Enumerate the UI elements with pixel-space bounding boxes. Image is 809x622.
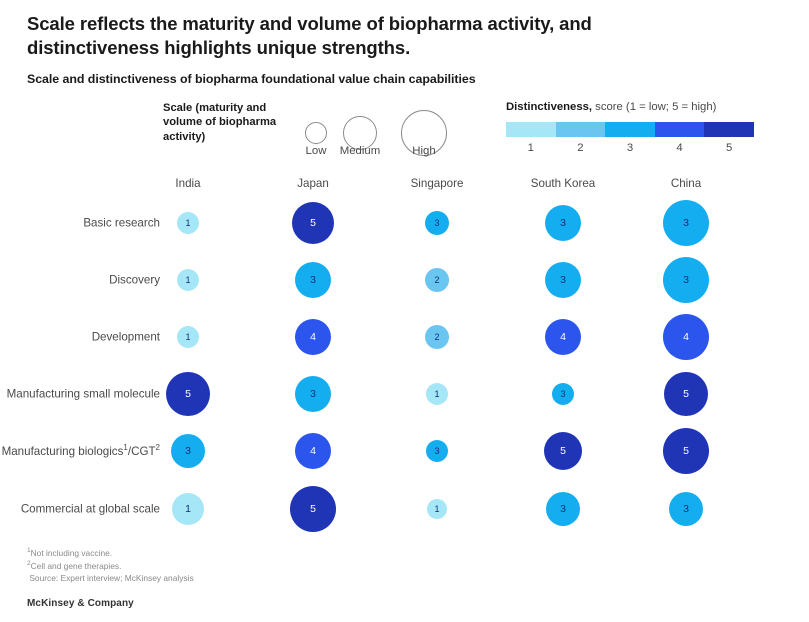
row-label-4: Manufacturing biologics1/CGT2 bbox=[0, 443, 160, 459]
column-header-china: China bbox=[671, 177, 701, 190]
bubble-1-japan[interactable]: 3 bbox=[295, 262, 331, 298]
bubble-3-india[interactable]: 5 bbox=[166, 372, 210, 416]
footnote-1: 2Cell and gene therapies. bbox=[27, 559, 447, 572]
row-label-2: Development bbox=[0, 329, 160, 344]
chart-page: Scale reflects the maturity and volume o… bbox=[0, 0, 809, 622]
bubble-0-china[interactable]: 3 bbox=[663, 200, 709, 246]
distinctiveness-tick-labels: 12345 bbox=[506, 142, 754, 154]
bubble-5-china[interactable]: 3 bbox=[669, 492, 703, 526]
bubble-4-china[interactable]: 5 bbox=[663, 428, 709, 474]
brand-mark: McKinsey & Company bbox=[27, 598, 134, 609]
color-swatch-3 bbox=[605, 122, 655, 137]
bubble-3-south-korea[interactable]: 3 bbox=[552, 383, 574, 405]
bubble-0-singapore[interactable]: 3 bbox=[425, 211, 449, 235]
column-header-south-korea: South Korea bbox=[531, 177, 595, 190]
bubble-1-india[interactable]: 1 bbox=[177, 269, 199, 291]
color-swatch-4 bbox=[655, 122, 705, 137]
bubble-5-japan[interactable]: 5 bbox=[290, 486, 336, 532]
color-tick-3: 3 bbox=[605, 142, 655, 154]
scale-legend-circle-low bbox=[305, 122, 327, 144]
color-tick-1: 1 bbox=[506, 142, 556, 154]
color-swatch-1 bbox=[506, 122, 556, 137]
bubble-4-singapore[interactable]: 3 bbox=[426, 440, 448, 462]
bubble-4-japan[interactable]: 4 bbox=[295, 433, 331, 469]
bubble-0-japan[interactable]: 5 bbox=[292, 202, 334, 244]
footnotes: 1Not including vaccine.2Cell and gene th… bbox=[27, 546, 447, 584]
footnote-0: 1Not including vaccine. bbox=[27, 546, 447, 559]
column-header-india: India bbox=[175, 177, 200, 190]
row-label-1: Discovery bbox=[0, 272, 160, 287]
distinctiveness-legend: Distinctiveness, score (1 = low; 5 = hig… bbox=[506, 101, 766, 163]
color-tick-2: 2 bbox=[556, 142, 606, 154]
distinctiveness-legend-title: Distinctiveness, score (1 = low; 5 = hig… bbox=[506, 101, 716, 113]
bubble-2-india[interactable]: 1 bbox=[177, 326, 199, 348]
distinctiveness-color-ramp bbox=[506, 122, 754, 137]
bubble-2-china[interactable]: 4 bbox=[663, 314, 709, 360]
bubble-5-south-korea[interactable]: 3 bbox=[546, 492, 580, 526]
bubble-5-india[interactable]: 1 bbox=[172, 493, 204, 525]
color-tick-5: 5 bbox=[704, 142, 754, 154]
scale-legend-title: Scale (maturity and volume of biopharma … bbox=[163, 101, 298, 144]
distinctiveness-legend-title-rest: score (1 = low; 5 = high) bbox=[592, 101, 716, 113]
bubble-5-singapore[interactable]: 1 bbox=[427, 499, 447, 519]
chart-subtitle: Scale and distinctiveness of biopharma f… bbox=[27, 72, 747, 86]
color-swatch-5 bbox=[704, 122, 754, 137]
scale-legend: Scale (maturity and volume of biopharma … bbox=[163, 101, 463, 163]
bubble-0-south-korea[interactable]: 3 bbox=[545, 205, 581, 241]
scale-legend-label-high: High bbox=[379, 145, 469, 157]
color-swatch-2 bbox=[556, 122, 606, 137]
bubble-3-china[interactable]: 5 bbox=[664, 372, 708, 416]
row-label-3: Manufacturing small molecule bbox=[0, 386, 160, 401]
bubble-2-singapore[interactable]: 2 bbox=[425, 325, 449, 349]
row-label-5: Commercial at global scale bbox=[0, 501, 160, 516]
bubble-4-south-korea[interactable]: 5 bbox=[544, 432, 582, 470]
bubble-2-south-korea[interactable]: 4 bbox=[545, 319, 581, 355]
bubble-3-japan[interactable]: 3 bbox=[295, 376, 331, 412]
page-title: Scale reflects the maturity and volume o… bbox=[27, 12, 717, 61]
bubble-2-japan[interactable]: 4 bbox=[295, 319, 331, 355]
footnote-2: Source: Expert interview; McKinsey analy… bbox=[27, 572, 447, 584]
bubble-1-south-korea[interactable]: 3 bbox=[545, 262, 581, 298]
distinctiveness-legend-title-bold: Distinctiveness, bbox=[506, 101, 592, 113]
bubble-1-china[interactable]: 3 bbox=[663, 257, 709, 303]
bubble-4-india[interactable]: 3 bbox=[171, 434, 205, 468]
bubble-1-singapore[interactable]: 2 bbox=[425, 268, 449, 292]
color-tick-4: 4 bbox=[655, 142, 705, 154]
column-header-japan: Japan bbox=[297, 177, 329, 190]
bubble-3-singapore[interactable]: 1 bbox=[426, 383, 448, 405]
row-label-0: Basic research bbox=[0, 215, 160, 230]
bubble-0-india[interactable]: 1 bbox=[177, 212, 199, 234]
column-header-singapore: Singapore bbox=[411, 177, 464, 190]
